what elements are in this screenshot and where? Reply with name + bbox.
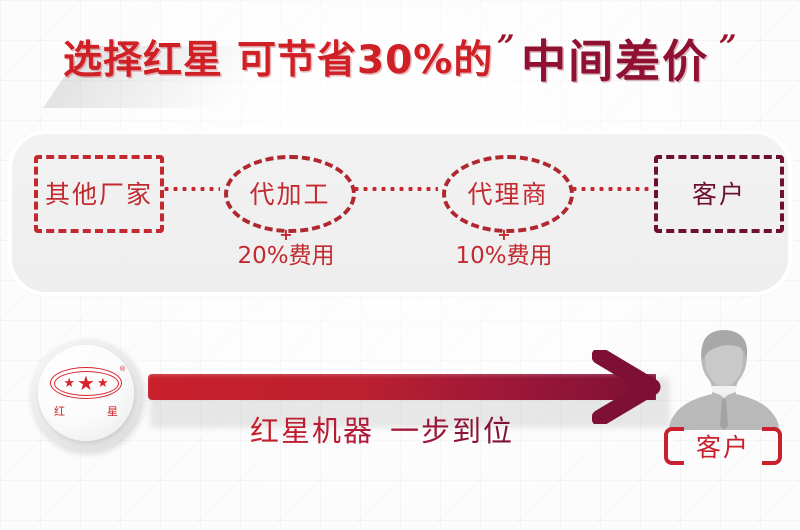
logo-face: ★ ★ ★ ® 红 星	[38, 345, 134, 441]
headline-lead: 选择红星	[63, 29, 223, 85]
logo-oval-stars: ★ ★ ★ ®	[50, 367, 122, 399]
customer-tag: 客户	[648, 428, 798, 464]
quote-open-mark: ”	[492, 29, 517, 65]
fee-amount: 20%费用	[201, 243, 371, 269]
arrow-shaft	[148, 374, 656, 400]
fee-markup-oem: + 20%费用	[201, 228, 371, 269]
chain-node-label: 代理商	[467, 182, 548, 207]
middlemen-chain-panel: 其他厂家 代加工 代理商 客户 + 20%费用 + 10%费用	[12, 134, 788, 292]
plus-sign: +	[419, 228, 589, 242]
quote-close-mark: ”	[713, 29, 738, 65]
chain-node-label: 客户	[692, 182, 746, 207]
connector-dots-3	[570, 187, 650, 191]
plus-sign: +	[201, 228, 371, 242]
connector-dots-2	[352, 187, 438, 191]
headline: 选择红星 可节省30%的 ” 中间差价 ”	[0, 26, 800, 88]
chain-node-customer: 客户	[654, 155, 784, 233]
slogan-part-a: 红星机器	[250, 414, 374, 448]
poster-canvas: 选择红星 可节省30%的 ” 中间差价 ” 其他厂家 代加工 代理商 客户	[0, 0, 800, 530]
registered-trademark-icon: ®	[119, 365, 126, 373]
fee-amount: 10%费用	[419, 243, 589, 269]
arrow-head-icon	[592, 350, 672, 424]
star-icon: ★	[97, 377, 109, 390]
chain-node-agent: 代理商	[442, 155, 574, 233]
chain-diagram: 其他厂家 代加工 代理商 客户 + 20%费用 + 10%费用	[12, 134, 788, 292]
slogan-part-b: 一步到位	[390, 414, 514, 448]
bracket-left-icon	[664, 427, 684, 465]
logo-char-hong: 红	[54, 403, 65, 419]
chain-node-oem: 代加工	[224, 155, 356, 233]
logo-char-xing: 星	[107, 403, 118, 419]
hongxing-logo: ★ ★ ★ ® 红 星	[34, 343, 138, 447]
headline-highlight: 中间差价	[521, 25, 709, 90]
star-icon: ★	[77, 373, 95, 393]
bracket-right-icon	[762, 427, 782, 465]
chain-node-label: 其他厂家	[45, 182, 153, 207]
fee-markup-agent: + 10%费用	[419, 228, 589, 269]
star-icon: ★	[63, 377, 75, 390]
logo-wordmark: 红 星	[54, 403, 118, 419]
customer-avatar-icon	[664, 324, 784, 430]
chain-node-other-factory: 其他厂家	[34, 155, 164, 233]
headline-middle: 可节省30%的	[237, 29, 493, 85]
customer-tag-label: 客户	[696, 428, 750, 464]
chain-node-label: 代加工	[249, 182, 330, 207]
connector-dots-1	[162, 187, 220, 191]
bottom-slogan: 红星机器一步到位	[250, 408, 514, 450]
